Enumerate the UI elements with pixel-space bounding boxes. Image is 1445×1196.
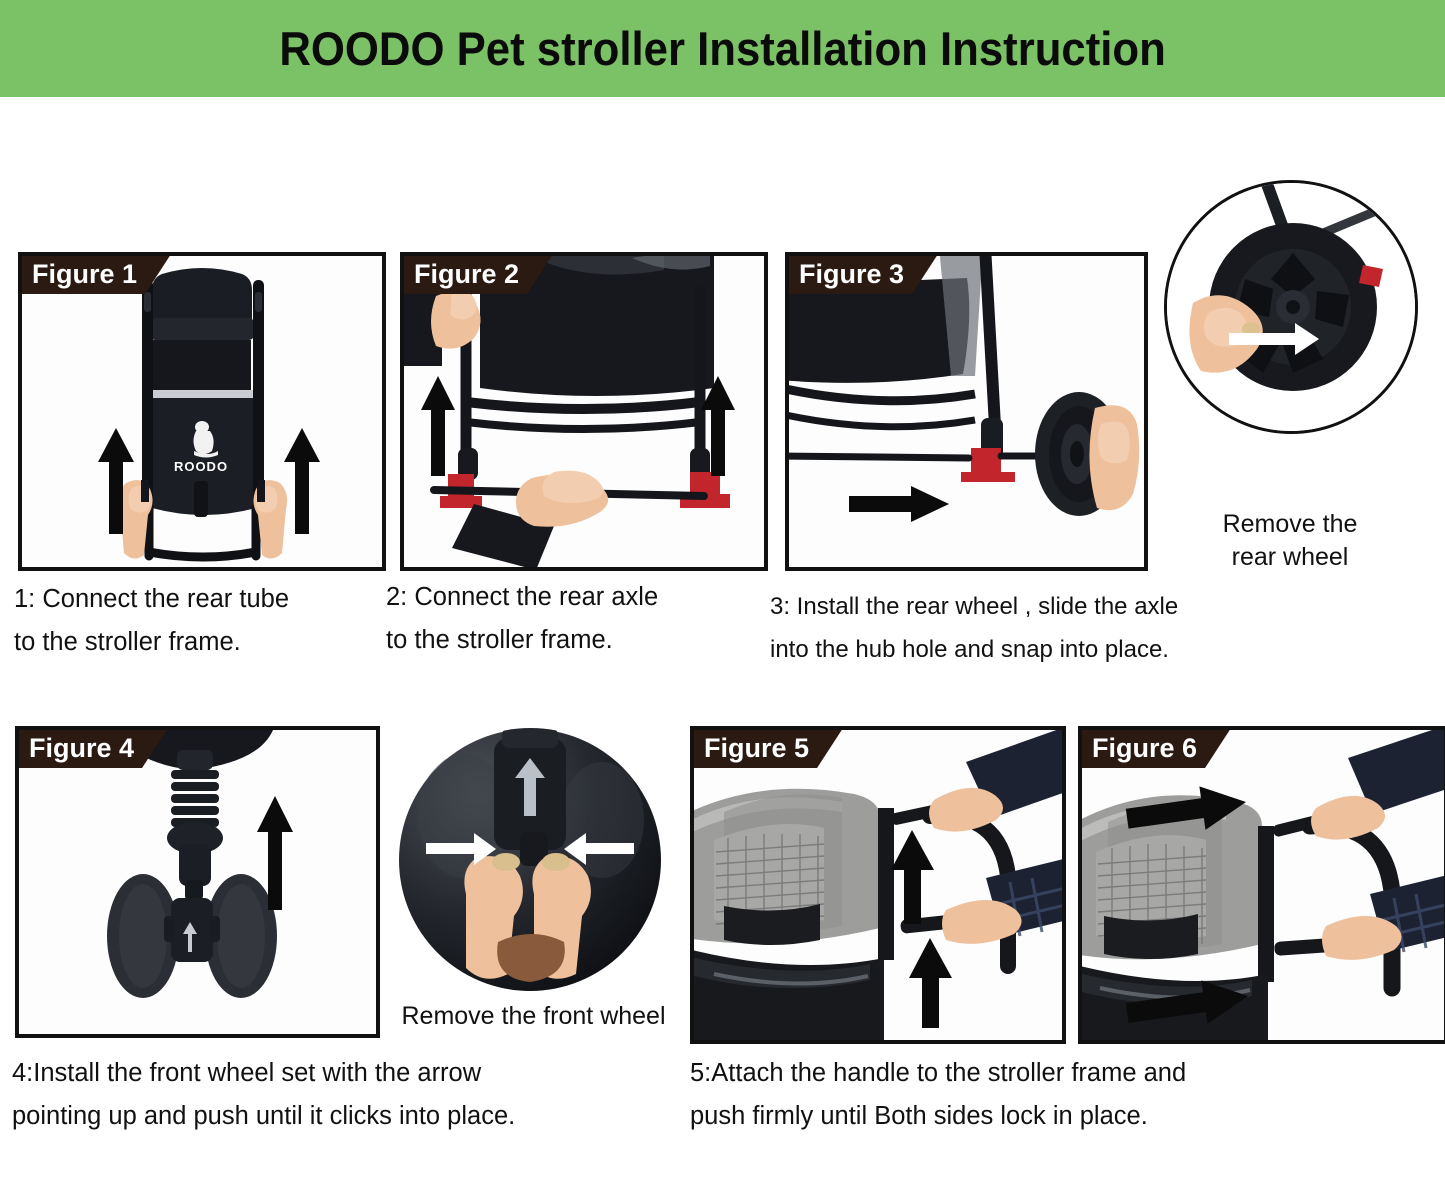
figure-4-illustration <box>19 730 376 1034</box>
step-3-caption: 3: Install the rear wheel , slide the ax… <box>770 585 1290 671</box>
svg-text:ROODO: ROODO <box>174 459 228 474</box>
step-5-caption: 5:Attach the handle to the stroller fram… <box>690 1052 1330 1138</box>
remove-rear-wheel-caption: Remove the rear wheel <box>1190 508 1390 574</box>
figure-5-badge: Figure 5 <box>692 728 843 768</box>
remove-rear-wheel-inset <box>1164 180 1418 434</box>
figure-5-illustration <box>694 730 1062 1040</box>
figure-6-panel: Figure 6 <box>1078 726 1445 1044</box>
figure-6-illustration <box>1082 730 1444 1040</box>
header-banner: ROODO Pet stroller Installation Instruct… <box>0 0 1445 97</box>
figure-6-badge: Figure 6 <box>1080 728 1231 768</box>
figure-3-panel: Figure 3 <box>785 252 1148 571</box>
figure-4-badge: Figure 4 <box>17 728 168 768</box>
figure-1-badge: Figure 1 <box>20 254 171 294</box>
figure-2-illustration <box>404 256 764 567</box>
figure-2-panel: Figure 2 <box>400 252 768 571</box>
step-2-caption: 2: Connect the rear axle to the stroller… <box>386 576 756 662</box>
remove-front-wheel-inset <box>398 728 663 993</box>
figure-3-illustration <box>789 256 1144 567</box>
figure-3-badge: Figure 3 <box>787 254 938 294</box>
step-4-caption: 4:Install the front wheel set with the a… <box>12 1052 632 1138</box>
page-title: ROODO Pet stroller Installation Instruct… <box>279 21 1165 76</box>
figure-2-badge: Figure 2 <box>402 254 553 294</box>
figure-1-panel: ROODO Figure 1 <box>18 252 386 571</box>
step-1-caption: 1: Connect the rear tube to the stroller… <box>14 578 386 664</box>
figure-4-panel: Figure 4 <box>15 726 380 1038</box>
figure-5-panel: Figure 5 <box>690 726 1066 1044</box>
remove-front-wheel-caption: Remove the front wheel <box>386 1000 681 1033</box>
figure-1-illustration: ROODO <box>22 256 382 567</box>
